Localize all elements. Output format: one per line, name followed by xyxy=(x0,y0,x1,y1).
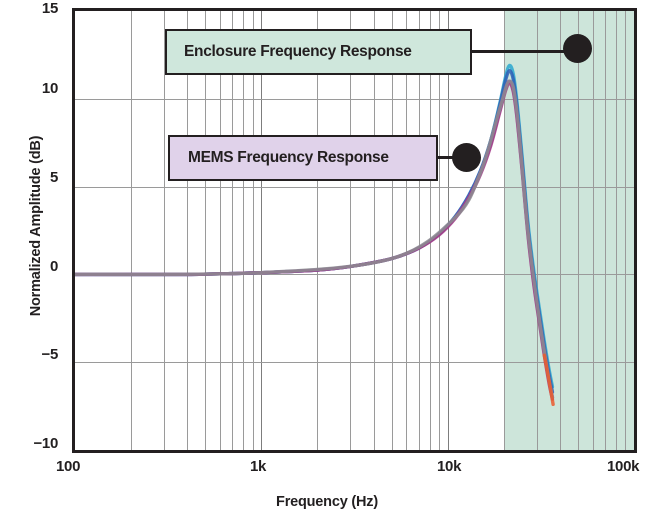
curve-trace-magenta xyxy=(75,83,552,399)
plot-inner xyxy=(75,11,634,450)
x-tick-10k: 10k xyxy=(437,458,461,475)
enclosure-marker-dot xyxy=(563,34,592,63)
curve-trace-blue xyxy=(75,71,552,392)
y-axis-tick-labels: 15 10 5 0 −5 −10 xyxy=(12,0,58,520)
y-tick-neg5: −5 xyxy=(12,346,58,363)
curve-trace-gray xyxy=(75,81,552,397)
x-tick-100k: 100k xyxy=(607,458,639,475)
y-tick-0: 0 xyxy=(12,258,58,275)
y-tick-5: 5 xyxy=(12,169,58,186)
enclosure-leader-line xyxy=(470,50,578,53)
y-tick-10: 10 xyxy=(12,80,58,97)
curve-trace-cyan xyxy=(75,65,552,386)
y-tick-neg10: −10 xyxy=(12,435,58,452)
mems-callout-box[interactable]: MEMS Frequency Response xyxy=(168,135,438,181)
frequency-response-chart: Normalized Amplitude (dB) Frequency (Hz)… xyxy=(0,0,654,520)
y-tick-15: 15 xyxy=(12,0,58,17)
x-tick-1k: 1k xyxy=(250,458,266,475)
mems-marker-dot xyxy=(452,143,481,172)
mems-callout-label: MEMS Frequency Response xyxy=(188,149,389,167)
x-tick-100: 100 xyxy=(56,458,80,475)
curve-traces xyxy=(75,11,634,450)
enclosure-callout-box[interactable]: Enclosure Frequency Response xyxy=(165,29,472,75)
enclosure-callout-label: Enclosure Frequency Response xyxy=(184,43,412,61)
curve-trace-purple xyxy=(75,81,552,397)
x-axis-title: Frequency (Hz) xyxy=(0,494,654,510)
